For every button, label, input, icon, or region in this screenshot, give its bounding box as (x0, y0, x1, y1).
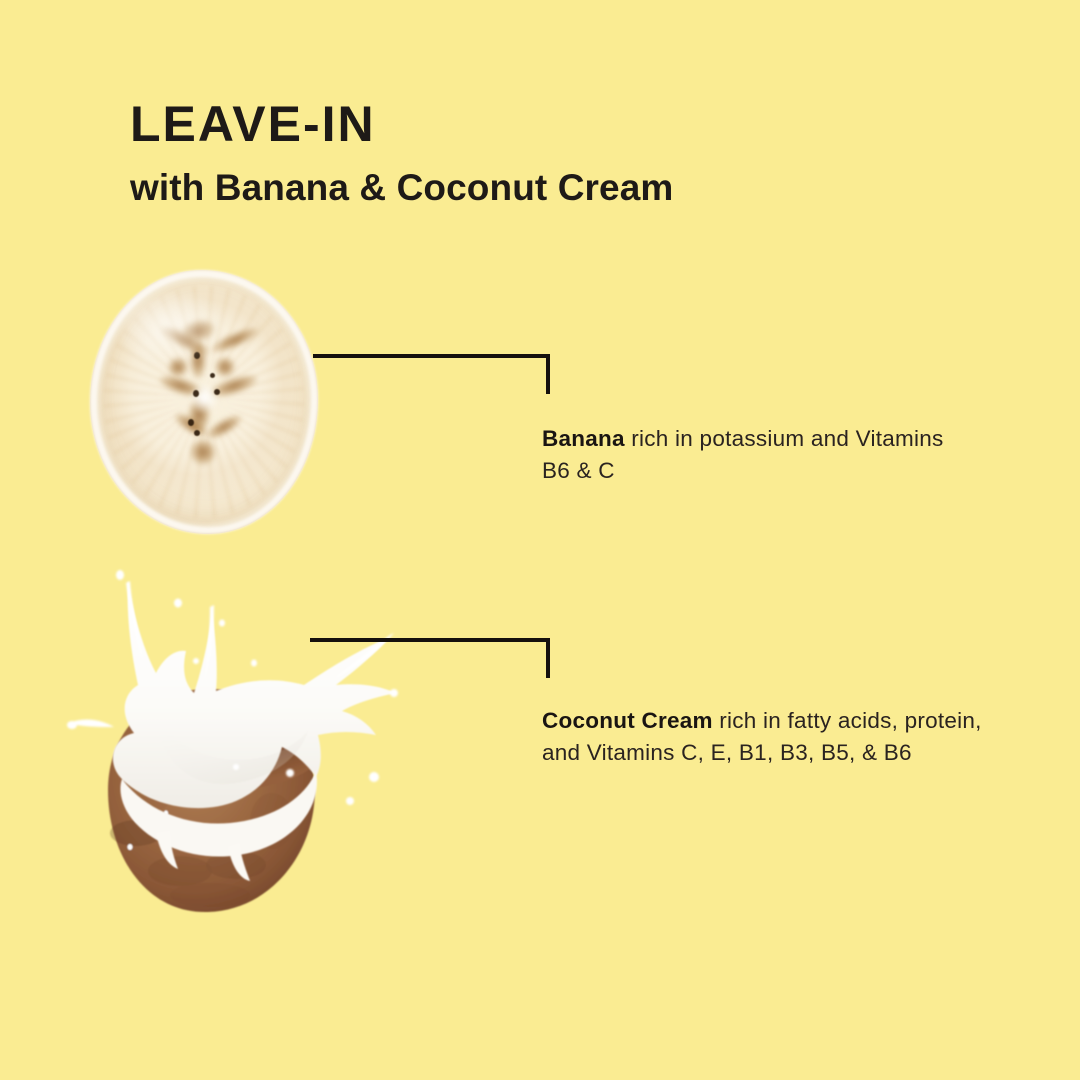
coconut-callout-text: Coconut Cream rich in fatty acids, prote… (542, 705, 1012, 769)
banana-callout-text: Banana rich in potassium and Vitamins B6… (542, 423, 962, 487)
banana-image-alt: Cross-section slice of a ripe banana (90, 270, 91, 271)
banana-slice-image: Cross-section slice of a ripe banana (90, 270, 318, 534)
banana-ingredient-label: Banana (542, 426, 625, 451)
coconut-svg (60, 565, 480, 940)
page-subtitle: with Banana & Coconut Cream (130, 167, 950, 210)
ingredient-infographic: LEAVE-IN with Banana & Coconut Cream (0, 0, 1080, 1080)
connector-vertical-segment (546, 638, 550, 678)
coconut-cream-splash-image: Half coconut shell with white cream spla… (60, 565, 480, 940)
page-title: LEAVE-IN (130, 98, 950, 151)
heading-block: LEAVE-IN with Banana & Coconut Cream (130, 98, 950, 209)
coconut-image-alt: Half coconut shell with white cream spla… (60, 940, 61, 941)
coconut-ingredient-label: Coconut Cream (542, 708, 713, 733)
banana-outer-rind (90, 270, 318, 534)
coconut-cream-splash (113, 581, 396, 881)
connector-horizontal-segment (313, 354, 550, 358)
connector-vertical-segment (546, 354, 550, 394)
banana-callout-connector (313, 354, 550, 396)
